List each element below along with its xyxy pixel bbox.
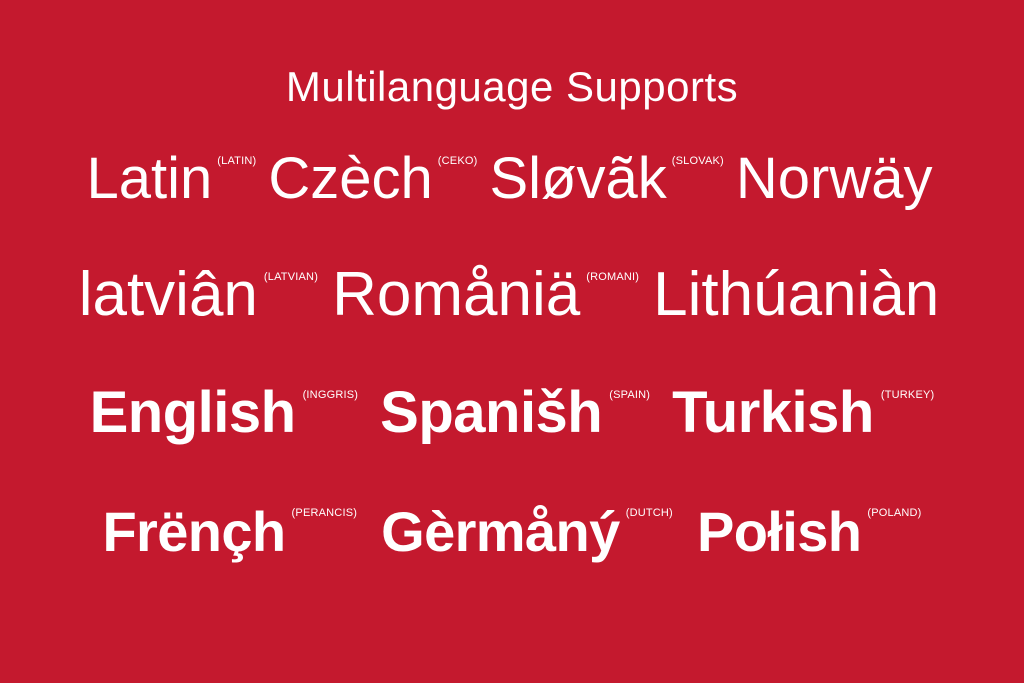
language-sample: Latin (LATIN) [87,150,257,208]
language-sample: English (INGGRIS) [90,384,359,442]
language-sample: Połish (POLAND) [697,504,922,560]
language-tag: (DUTCH) [626,508,673,519]
language-word: Czèch [268,150,432,208]
language-row-thin: Latin (LATIN) Czèch (CEKO) Sløvãk (SLOVA… [0,150,1024,260]
language-sample: Gèrmåný (DUTCH) [381,504,673,560]
language-tag: (POLAND) [867,508,921,519]
language-word: latviân [79,264,258,326]
language-tag: (SPAIN) [609,390,650,401]
language-tag: (ROMANI) [586,272,639,283]
language-sample: Spanišh (SPAIN) [380,384,650,442]
language-sample: Romåniä (ROMANI) [332,264,639,326]
language-sample: latviân (LATVIAN) [79,264,318,326]
language-word: Norwäy [736,150,933,208]
language-rows: Latin (LATIN) Czèch (CEKO) Sløvãk (SLOVA… [0,150,1024,622]
language-tag: (PERANCIS) [292,508,358,519]
language-tag: (CEKO) [438,156,478,167]
language-sample: Sløvãk (SLOVAK) [489,150,723,208]
language-row-bold: English (INGGRIS) Spanišh (SPAIN) Turkis… [0,384,1024,502]
language-word: Romåniä [332,264,580,326]
language-tag: (LATIN) [217,156,256,167]
page-title: Multilanguage Supports [286,66,738,108]
language-word: Spanišh [380,384,602,442]
language-sample: Czèch (CEKO) [268,150,477,208]
language-word: English [90,384,296,442]
language-tag: (INGGRIS) [303,390,359,401]
language-word: Gèrmåný [381,504,620,560]
font-specimen-canvas: Multilanguage Supports Latin (LATIN) Czè… [0,0,1024,683]
language-sample: Lithúaniàn [653,264,945,326]
language-tag: (LATVIAN) [264,272,318,283]
language-word: Latin [87,150,213,208]
language-word: Turkish [672,384,874,442]
language-row-light: latviân (LATVIAN) Romåniä (ROMANI) Lithú… [0,264,1024,382]
language-sample: Turkish (TURKEY) [672,384,934,442]
language-sample: Norwäy [736,150,938,208]
language-word: Lithúaniàn [653,264,939,326]
language-word: Połish [697,504,861,560]
language-word: Sløvãk [489,150,666,208]
language-word: Frënçh [102,504,285,560]
language-tag: (TURKEY) [881,390,935,401]
language-tag: (SLOVAK) [672,156,724,167]
language-row-black: Frënçh (PERANCIS) Gèrmåný (DUTCH) Połish… [0,504,1024,622]
language-sample: Frënçh (PERANCIS) [102,504,357,560]
